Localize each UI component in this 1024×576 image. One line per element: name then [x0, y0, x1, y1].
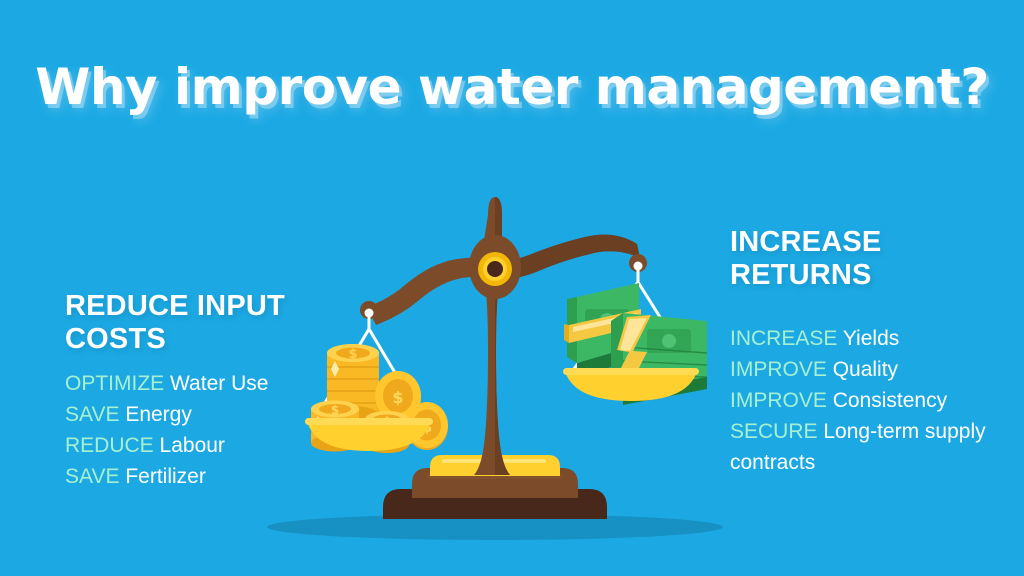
list-item: OPTIMIZE Water Use — [65, 368, 355, 399]
benefit-keyword: SECURE — [730, 420, 818, 443]
slide-root: Why improve water management? — [0, 0, 1024, 576]
right-benefit-list: INCREASE Yields IMPROVE Quality IMPROVE … — [730, 323, 1010, 478]
benefit-text: Yields — [843, 327, 899, 350]
left-benefit-list: OPTIMIZE Water Use SAVE Energy REDUCE La… — [65, 368, 355, 492]
right-pan-dish — [565, 371, 697, 401]
benefit-keyword: SAVE — [65, 403, 119, 426]
pivot-center-hole — [487, 261, 503, 277]
benefit-keyword: IMPROVE — [730, 358, 827, 381]
list-item: SAVE Fertilizer — [65, 461, 355, 492]
list-item: SAVE Energy — [65, 399, 355, 430]
list-item: SECURE Long-term supply contracts — [730, 416, 1010, 478]
right-pan-rim — [563, 368, 699, 375]
right-column-heading: INCREASE RETURNS — [730, 226, 1000, 292]
list-item: REDUCE Labour — [65, 430, 355, 461]
benefit-text: Quality — [833, 358, 898, 381]
benefit-keyword: IMPROVE — [730, 389, 827, 412]
svg-text:$: $ — [348, 347, 357, 362]
benefit-keyword: REDUCE — [65, 434, 154, 457]
benefit-text: Fertilizer — [125, 465, 206, 488]
right-string-knot — [634, 262, 643, 271]
benefit-text: Water Use — [170, 372, 268, 395]
svg-text:$: $ — [392, 388, 403, 407]
list-item: IMPROVE Consistency — [730, 385, 1010, 416]
page-title: Why improve water management? — [0, 58, 1024, 116]
left-string-knot — [365, 309, 374, 318]
benefit-keyword: SAVE — [65, 465, 119, 488]
benefit-keyword: INCREASE — [730, 327, 837, 350]
list-item: IMPROVE Quality — [730, 354, 1010, 385]
left-column-heading: REDUCE INPUT COSTS — [65, 290, 325, 356]
benefit-text: Energy — [125, 403, 192, 426]
list-item: INCREASE Yields — [730, 323, 1010, 354]
benefit-text: Labour — [160, 434, 225, 457]
benefit-keyword: OPTIMIZE — [65, 372, 164, 395]
benefit-text: Consistency — [833, 389, 947, 412]
